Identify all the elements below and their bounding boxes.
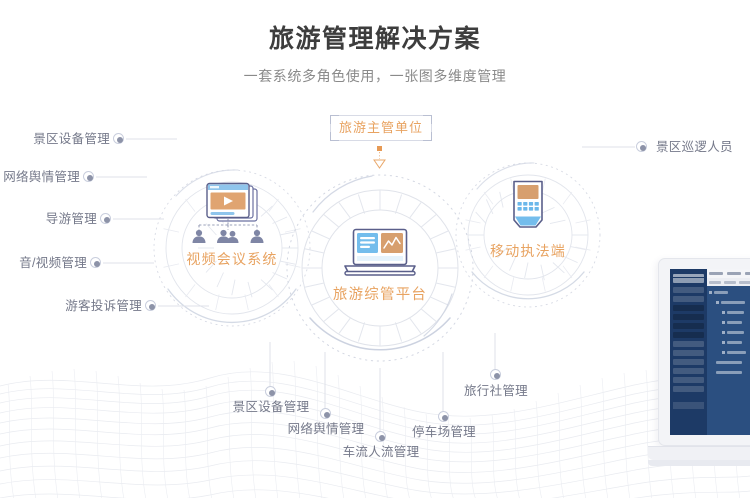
node-dot-left-0[interactable]	[113, 133, 124, 144]
tree-row-text	[714, 291, 728, 294]
tree-row	[709, 319, 750, 326]
node-label-bottom-0[interactable]: 景区设备管理	[231, 399, 311, 415]
tab-item	[724, 281, 736, 284]
dashboard-tree	[707, 286, 750, 435]
tree-row	[709, 299, 750, 306]
laptop-base-front	[648, 460, 750, 466]
tree-row-text	[727, 321, 742, 324]
tree-row-text	[727, 341, 742, 344]
authority-arrow	[374, 146, 385, 168]
dashboard-menu-item	[673, 350, 704, 356]
dashboard-menu-item	[673, 296, 704, 302]
tree-row-text	[716, 361, 742, 364]
tree-row	[709, 329, 750, 336]
dashboard-tabbar	[707, 278, 750, 286]
dashboard-menu-item	[673, 332, 704, 338]
node-dot-bottom-0[interactable]	[265, 386, 276, 397]
dashboard-body	[707, 286, 750, 435]
dashboard-main	[707, 269, 750, 435]
node-dot-right-0[interactable]	[636, 141, 647, 152]
node-label-bottom-4[interactable]: 旅行社管理	[456, 383, 536, 399]
node-dot-bottom-2[interactable]	[375, 431, 386, 442]
dashboard-menu-item	[673, 305, 704, 311]
hub-video-conference[interactable]: 视频会议系统	[177, 182, 287, 269]
tree-row-text	[721, 301, 745, 304]
tree-bullet-icon	[722, 311, 725, 314]
tab-item	[739, 281, 750, 284]
dashboard-menu-item	[673, 341, 704, 347]
node-label-left-2[interactable]: 导游管理	[0, 211, 97, 227]
node-dot-left-2[interactable]	[100, 213, 111, 224]
tree-row-text	[727, 351, 746, 354]
tree-row	[709, 349, 750, 356]
node-label-left-0[interactable]: 景区设备管理	[0, 131, 110, 147]
page-header: 旅游管理解决方案 一套系统多角色使用，一张图多维度管理	[0, 22, 750, 86]
tree-bullet-icon	[722, 351, 725, 354]
tree-toggle-icon	[709, 291, 712, 294]
video-window-icon	[177, 182, 287, 244]
node-dot-bottom-3[interactable]	[438, 411, 449, 422]
hub-tourism-platform[interactable]: 旅游综管平台	[320, 228, 440, 305]
solution-diagram-page: 旅游管理解决方案 一套系统多角色使用，一张图多维度管理	[0, 0, 750, 498]
node-dot-bottom-4[interactable]	[490, 369, 501, 380]
authority-box[interactable]: 旅游主管单位	[330, 115, 432, 141]
topbar-item	[709, 272, 723, 275]
node-label-left-4[interactable]: 游客投诉管理	[0, 298, 142, 314]
dashboard-sidebar	[670, 269, 707, 435]
tree-bullet-icon	[722, 331, 725, 334]
hub-title-video-conference: 视频会议系统	[177, 249, 287, 269]
handheld-device-icon	[478, 180, 578, 236]
dashboard-menu-item	[673, 368, 704, 374]
topbar-item	[745, 272, 750, 275]
dashboard-sidebar-footer	[673, 402, 704, 409]
tree-row	[709, 369, 750, 376]
dashboard-menu-item	[673, 386, 704, 392]
dashboard-menu-item-selected	[673, 314, 704, 320]
node-label-bottom-2[interactable]: 车流人流管理	[341, 444, 421, 460]
tree-toggle-icon	[716, 301, 719, 304]
node-label-bottom-3[interactable]: 停车场管理	[404, 424, 484, 440]
hub-title-tourism-platform: 旅游综管平台	[320, 285, 440, 305]
topbar-item	[727, 272, 741, 275]
laptop-dashboard-icon	[320, 228, 440, 280]
background-mesh	[0, 328, 750, 498]
tree-row-text	[727, 311, 744, 314]
hub-title-mobile-enforcement: 移动执法端	[478, 241, 578, 261]
laptop-mockup	[648, 258, 750, 484]
tree-row	[709, 309, 750, 316]
tree-row-text	[716, 371, 742, 374]
hub-mobile-enforcement[interactable]: 移动执法端	[478, 180, 578, 261]
tree-row	[709, 289, 750, 296]
tree-bullet-icon	[722, 321, 725, 324]
node-label-left-1[interactable]: 网络舆情管理	[0, 169, 80, 185]
tree-bullet-icon	[722, 341, 725, 344]
node-label-left-3[interactable]: 音/视频管理	[0, 255, 87, 271]
page-title: 旅游管理解决方案	[0, 22, 750, 56]
laptop-screen	[670, 269, 750, 435]
node-dot-left-4[interactable]	[145, 300, 156, 311]
page-subtitle: 一套系统多角色使用，一张图多维度管理	[0, 66, 750, 86]
tree-row	[709, 359, 750, 366]
tab-item	[709, 281, 721, 284]
dashboard-menu-item	[673, 359, 704, 365]
tree-row	[709, 339, 750, 346]
node-label-right-0[interactable]: 景区巡逻人员	[656, 139, 750, 155]
node-dot-left-1[interactable]	[83, 171, 94, 182]
dashboard-topbar	[707, 269, 750, 278]
authority-label: 旅游主管单位	[330, 115, 432, 141]
dashboard-menu-item	[673, 377, 704, 383]
tree-row-text	[727, 331, 744, 334]
node-label-bottom-1[interactable]: 网络舆情管理	[286, 421, 366, 437]
node-dot-bottom-1[interactable]	[320, 408, 331, 419]
laptop-base	[648, 446, 750, 460]
dashboard-brand	[673, 274, 704, 283]
dashboard-menu-item	[673, 287, 704, 293]
node-dot-left-3[interactable]	[90, 257, 101, 268]
dashboard-menu-item	[673, 323, 704, 329]
